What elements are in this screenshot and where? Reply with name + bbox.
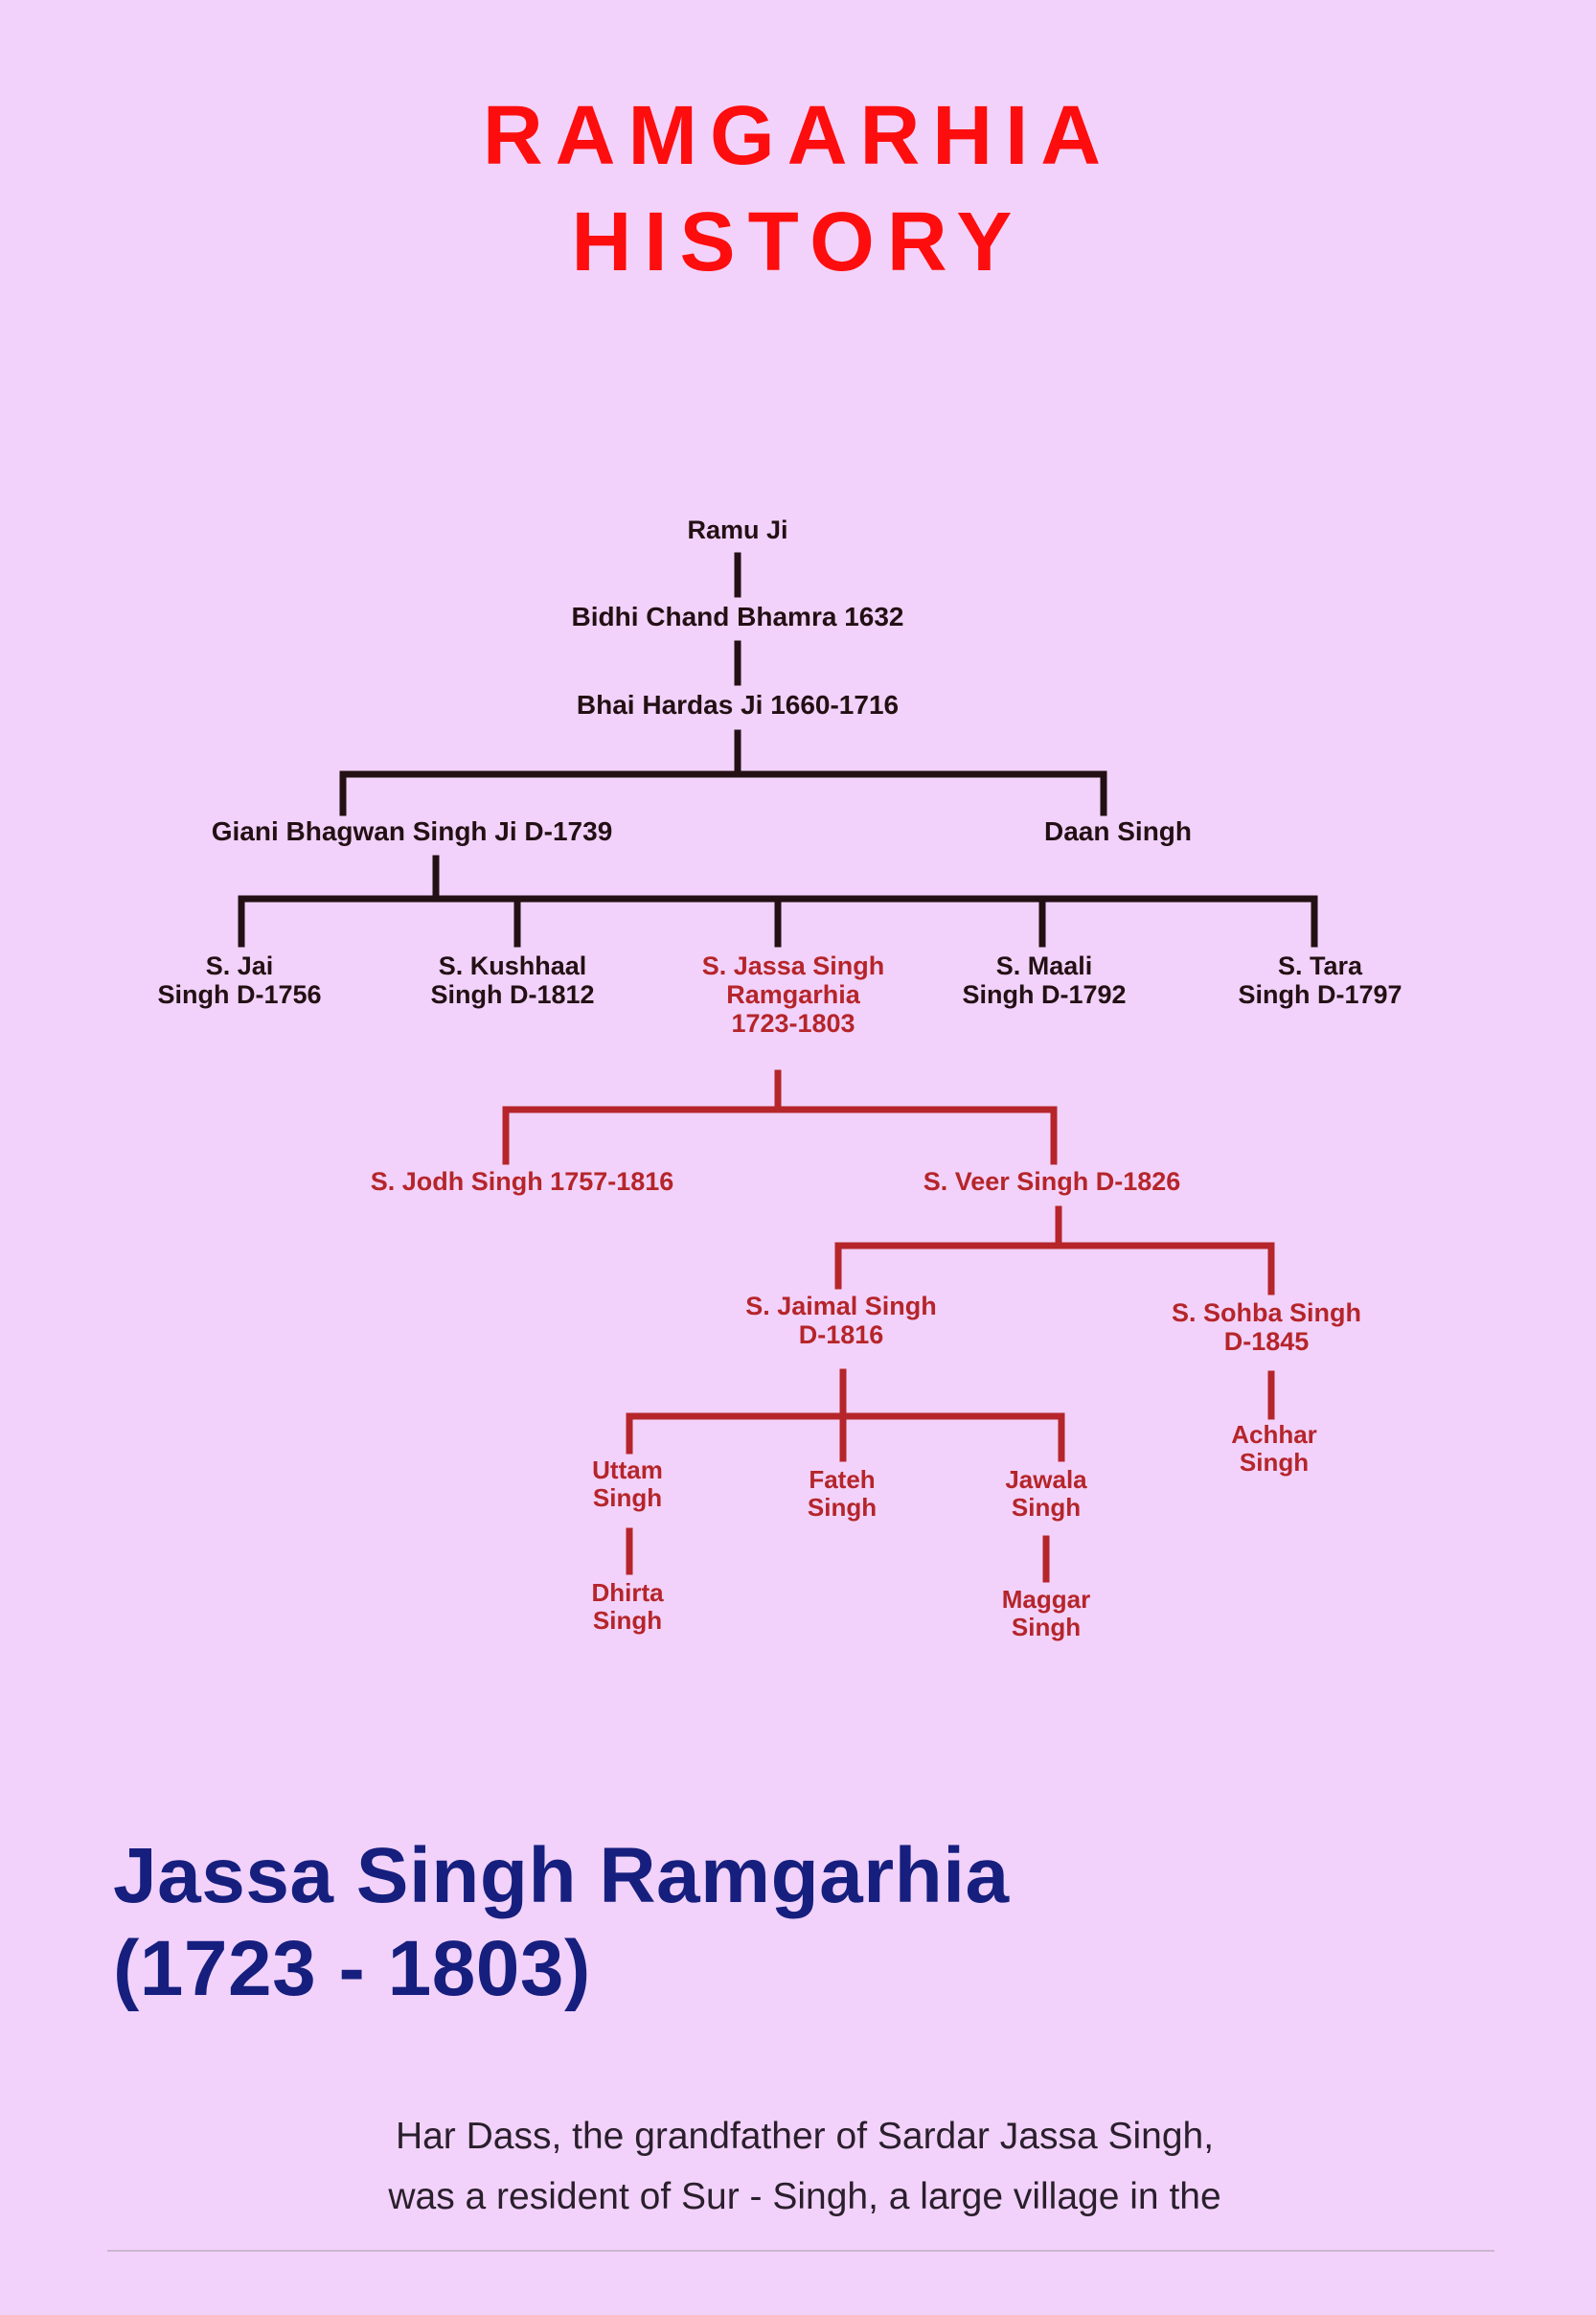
tree-node-achhar-singh: Achhar Singh — [1183, 1421, 1365, 1477]
tree-node-ramu-ji: Ramu Ji — [687, 516, 787, 544]
bottom-divider — [107, 2250, 1494, 2252]
tree-node-s-jai-singh-line2: Singh D-1756 — [157, 980, 321, 1009]
tree-node-fateh-singh-line2: Singh — [808, 1493, 877, 1522]
tree-node-s-jassa-singh-line1: S. Jassa Singh — [702, 951, 885, 980]
body-paragraph-line1: Har Dass, the grandfather of Sardar Jass… — [115, 2106, 1494, 2166]
tree-node-daan-singh: Daan Singh — [1044, 816, 1192, 846]
tree-node-dhirta-singh-line2: Singh — [593, 1606, 662, 1635]
tree-node-s-kushhaal-singh-line2: Singh D-1812 — [430, 980, 594, 1009]
tree-node-s-sohba-singh-line2: D-1845 — [1224, 1327, 1310, 1356]
tree-node-achhar-singh-line2: Singh — [1240, 1448, 1309, 1477]
subject-heading-line2: (1723 - 1803) — [113, 1923, 1502, 2016]
family-tree: Ramu Ji Bidhi Chand Bhamra 1632 Bhai Har… — [0, 0, 1596, 1706]
tree-node-s-maali-singh: S. Maali Singh D-1792 — [915, 951, 1174, 1009]
tree-node-s-jodh-singh: S. Jodh Singh 1757-1816 — [371, 1167, 674, 1196]
poster-page: RAMGARHIA HISTORY — [0, 0, 1596, 2315]
tree-node-s-kushhaal-singh-line1: S. Kushhaal — [439, 951, 587, 980]
tree-node-s-jaimal-singh-line1: S. Jaimal Singh — [745, 1292, 937, 1320]
tree-node-s-sohba-singh-line1: S. Sohba Singh — [1172, 1298, 1361, 1327]
body-paragraph-line2: was a resident of Sur - Singh, a large v… — [115, 2166, 1494, 2227]
tree-node-fateh-singh-line1: Fateh — [809, 1465, 875, 1494]
subject-heading-line1: Jassa Singh Ramgarhia — [113, 1830, 1502, 1923]
tree-node-s-jai-singh: S. Jai Singh D-1756 — [110, 951, 369, 1009]
tree-node-s-veer-singh: S. Veer Singh D-1826 — [923, 1167, 1181, 1196]
tree-node-giani-bhagwan-singh-ji: Giani Bhagwan Singh Ji D-1739 — [212, 816, 613, 846]
tree-node-jawala-singh: Jawala Singh — [955, 1466, 1137, 1522]
tree-node-s-jaimal-singh: S. Jaimal Singh D-1816 — [697, 1292, 985, 1349]
tree-node-jawala-singh-line1: Jawala — [1005, 1465, 1086, 1494]
body-paragraph: Har Dass, the grandfather of Sardar Jass… — [115, 2106, 1494, 2227]
tree-node-s-tara-singh: S. Tara Singh D-1797 — [1191, 951, 1449, 1009]
tree-node-s-tara-singh-line2: Singh D-1797 — [1238, 980, 1402, 1009]
tree-node-jawala-singh-line2: Singh — [1012, 1493, 1081, 1522]
tree-node-uttam-singh: Uttam Singh — [536, 1456, 718, 1512]
tree-node-bidhi-chand-bhamra: Bidhi Chand Bhamra 1632 — [572, 602, 904, 631]
tree-node-s-maali-singh-line2: Singh D-1792 — [962, 980, 1126, 1009]
subject-heading: Jassa Singh Ramgarhia (1723 - 1803) — [113, 1830, 1502, 2016]
tree-node-s-jassa-singh-line3: 1723-1803 — [731, 1009, 855, 1038]
tree-node-s-jaimal-singh-line2: D-1816 — [799, 1320, 884, 1349]
tree-node-fateh-singh: Fateh Singh — [751, 1466, 933, 1522]
tree-node-dhirta-singh-line1: Dhirta — [591, 1578, 663, 1607]
tree-node-s-jassa-singh-ramgarhia: S. Jassa Singh Ramgarhia 1723-1803 — [654, 951, 932, 1039]
tree-node-uttam-singh-line2: Singh — [593, 1483, 662, 1512]
tree-node-bhai-hardas-ji: Bhai Hardas Ji 1660-1716 — [577, 690, 899, 720]
tree-node-maggar-singh-line1: Maggar — [1002, 1585, 1090, 1614]
tree-node-s-jai-singh-line1: S. Jai — [206, 951, 274, 980]
tree-node-s-tara-singh-line1: S. Tara — [1278, 951, 1362, 980]
tree-node-uttam-singh-line1: Uttam — [592, 1455, 663, 1484]
tree-node-s-sohba-singh: S. Sohba Singh D-1845 — [1123, 1298, 1410, 1356]
tree-node-s-kushhaal-singh: S. Kushhaal Singh D-1812 — [383, 951, 642, 1009]
tree-node-s-jassa-singh-line2: Ramgarhia — [726, 980, 860, 1009]
tree-node-maggar-singh-line2: Singh — [1012, 1613, 1081, 1641]
tree-node-maggar-singh: Maggar Singh — [955, 1586, 1137, 1641]
tree-node-dhirta-singh: Dhirta Singh — [536, 1579, 718, 1635]
tree-node-achhar-singh-line1: Achhar — [1231, 1420, 1317, 1449]
tree-node-s-maali-singh-line1: S. Maali — [996, 951, 1093, 980]
